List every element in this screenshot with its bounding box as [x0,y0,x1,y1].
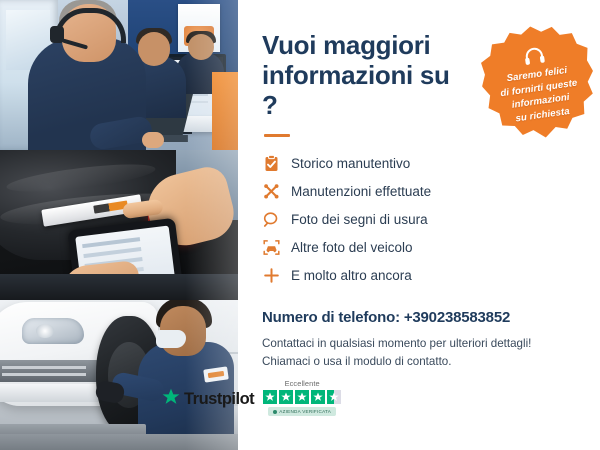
star-filled-4 [311,390,325,404]
trustpilot-wordmark: Trustpilot [184,390,254,409]
star-half-5 [327,390,341,404]
call-center-agents-photo [0,0,238,150]
star-filled-2 [279,390,293,404]
trustpilot-rating-block: Eccellente [263,379,341,416]
vehicle-damage-inspection-photo [0,150,238,300]
contact-block: Numero di telefono: +390238583852 Contat… [262,309,578,370]
page-title: Vuoi maggiori informazioni su ? [262,30,462,120]
star-rating [263,390,341,404]
phone-number[interactable]: Numero di telefono: +390238583852 [262,309,578,326]
trustpilot-star-icon [162,388,180,411]
star-filled-3 [295,390,309,404]
contact-line-2: Chiamaci o usa il modulo di contatto. [262,353,578,370]
rating-label: Eccellente [285,379,320,388]
verified-business-badge: AZIENDA VERIFICATA [268,407,336,416]
feature-label: Manutenzioni effettuate [291,184,431,199]
title-divider [264,134,290,137]
verified-check-icon [273,410,277,414]
advertisement-banner: Vuoi maggiori informazioni su ? Storico … [0,0,600,450]
plus-icon [262,266,280,284]
feature-label: Altre foto del veicolo [291,240,413,255]
trustpilot-widget[interactable]: Trustpilot Eccellente [162,379,341,416]
feature-label: Storico manutentivo [291,156,410,171]
tools-cross-icon [262,182,280,200]
verified-label: AZIENDA VERIFICATA [279,409,331,414]
mechanic-wheel-inspection-photo [0,300,238,450]
feature-item-storico-manutentivo: Storico manutentivo [262,149,578,177]
feature-item-molto-altro: E molto altro ancora [262,261,578,289]
callout-badge: Saremo felici di fornirti queste informa… [475,19,600,145]
feature-item-altre-foto-veicolo: Altre foto del veicolo [262,233,578,261]
feature-list: Storico manutentivo Manutenzi [262,149,578,289]
feature-item-manutenzioni-effettuate: Manutenzioni effettuate [262,177,578,205]
magnifier-icon [262,210,280,228]
contact-line-1: Contattaci in qualsiasi momento per ulte… [262,335,578,352]
star-filled-1 [263,390,277,404]
car-scan-frame-icon [262,238,280,256]
feature-item-foto-segni-usura: Foto dei segni di usura [262,205,578,233]
feature-label: E molto altro ancora [291,268,412,283]
clipboard-check-icon [262,154,280,172]
feature-label: Foto dei segni di usura [291,212,428,227]
trustpilot-logo: Trustpilot [162,388,254,411]
